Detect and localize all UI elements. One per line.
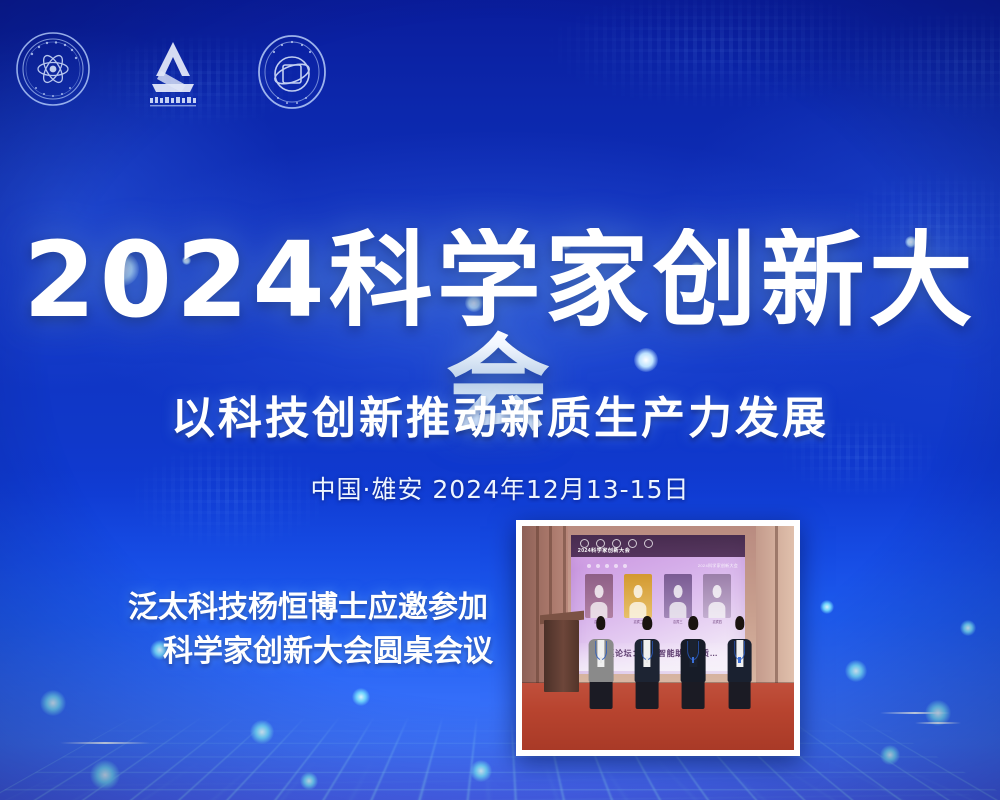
photo-scene: 2024科学家创新大会 2024科学家创新大会 嘉宾一 <box>522 526 794 750</box>
portrait-head <box>594 585 603 598</box>
slide-icon-1 <box>587 564 591 568</box>
caption-line-1: 泛太科技杨恒博士应邀参加 <box>128 586 528 630</box>
panelist-hair <box>596 616 605 629</box>
cast-emblem-logo <box>14 30 92 108</box>
portrait-image <box>585 574 613 618</box>
panelist <box>723 618 756 708</box>
portrait-body <box>669 602 686 618</box>
caption-line-2: 科学家创新大会圆桌会议 <box>128 630 528 674</box>
logo-row <box>14 30 330 112</box>
panelist-legs <box>589 679 612 709</box>
panelist-badge <box>692 657 694 662</box>
institute-oval-logo <box>254 32 330 112</box>
panelist-legs <box>682 679 705 709</box>
portrait-body <box>630 602 647 618</box>
screen-header-title: 2024科学家创新大会 <box>578 547 630 554</box>
portrait-image <box>664 574 692 618</box>
wall-panel-line <box>775 526 778 687</box>
slide-brand-text: 2024科学家创新大会 <box>698 563 738 569</box>
panelist-hair <box>689 616 698 629</box>
portrait-body <box>709 602 726 618</box>
panelist-hair <box>642 616 651 629</box>
dateline: 中国·雄安 2024年12月13-15日 <box>0 470 1000 506</box>
slide-icon-4 <box>614 564 618 568</box>
caption-block: 泛太科技杨恒博士应邀参加 科学家创新大会圆桌会议 <box>128 586 528 675</box>
screen-icon-5 <box>644 539 653 548</box>
portrait-image <box>624 574 652 618</box>
conference-triangle-logo <box>134 36 212 108</box>
panelist-legs <box>728 679 751 709</box>
slide-icon-2 <box>596 564 600 568</box>
panelist-legs <box>636 679 659 709</box>
poster-canvas: 2024科学家创新大会 以科技创新推动新质生产力发展 中国·雄安 2024年12… <box>0 0 1000 800</box>
podium <box>544 620 579 692</box>
portrait-image <box>703 574 731 618</box>
slide-icon-3 <box>605 564 609 568</box>
panelist <box>585 618 618 708</box>
panelist-badge <box>600 657 602 662</box>
panelist-hair <box>735 616 744 629</box>
subtitle: 以科技创新推动新质生产力发展 <box>0 382 1000 446</box>
portrait-head <box>673 585 682 598</box>
portrait-head <box>634 585 643 598</box>
panelist <box>631 618 664 708</box>
panelist-badge <box>646 657 648 662</box>
panelist-badge <box>738 657 740 662</box>
wall-panel-line <box>536 526 539 687</box>
portrait-head <box>713 585 722 598</box>
slide-icon-5 <box>623 564 627 568</box>
panelist <box>677 618 710 708</box>
event-photo: 2024科学家创新大会 2024科学家创新大会 嘉宾一 <box>516 520 800 756</box>
slide-icon-row <box>587 564 627 568</box>
